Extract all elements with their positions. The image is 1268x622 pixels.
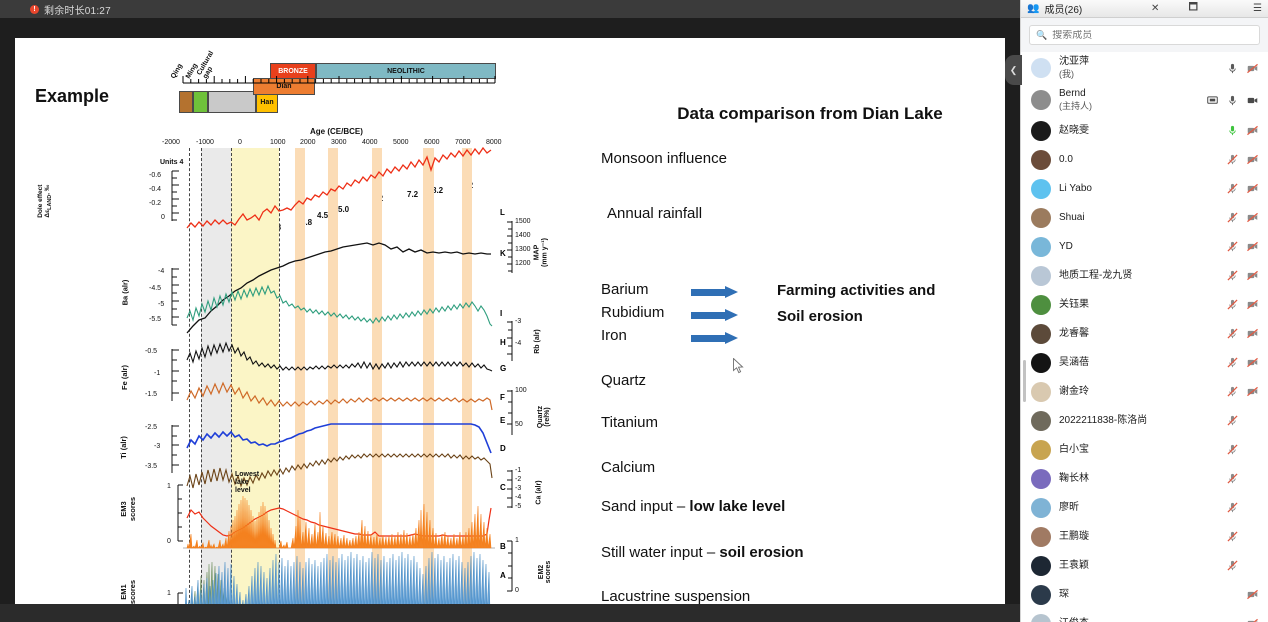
participants-panel-header: 👥 成员(26) 🗖 ✕ ☰ xyxy=(1021,0,1268,18)
participant-controls[interactable] xyxy=(1227,270,1258,281)
text-rubidium: Rubidium xyxy=(601,304,664,321)
participant-controls[interactable] xyxy=(1227,473,1258,484)
participant-row[interactable]: Li Yabo xyxy=(1021,174,1268,203)
camera-icon[interactable] xyxy=(1247,63,1258,74)
mic-icon[interactable] xyxy=(1227,63,1238,74)
search-input[interactable] xyxy=(1052,30,1253,41)
text-farming-callout-line2: Soil erosion xyxy=(777,308,863,326)
shared-screen-stage: Qing Ming Culturalgap Han Dian BRONZE NE… xyxy=(0,18,1020,604)
clock-icon: ! xyxy=(30,5,39,14)
participant-name: 0.0 xyxy=(1059,154,1219,166)
participant-name: YD xyxy=(1059,241,1219,253)
camera-icon[interactable] xyxy=(1247,357,1258,368)
avatar xyxy=(1031,556,1051,576)
hamburger-menu-icon[interactable]: ☰ xyxy=(1253,3,1262,14)
avatar xyxy=(1031,324,1051,344)
avatar xyxy=(1031,90,1051,110)
search-icon: 🔍 xyxy=(1036,30,1047,41)
participant-role: (我) xyxy=(1059,67,1219,80)
mic-icon[interactable] xyxy=(1227,531,1238,542)
text-quartz: Quartz xyxy=(601,372,646,389)
text-monsoon-influence: Monsoon influence xyxy=(601,150,727,167)
avatar xyxy=(1031,237,1051,257)
participant-name: 王鹏璇 xyxy=(1059,531,1219,543)
participant-name: 沈亚萍 xyxy=(1059,56,1219,68)
presentation-slide: Qing Ming Culturalgap Han Dian BRONZE NE… xyxy=(15,38,1005,612)
mic-icon[interactable] xyxy=(1227,357,1238,368)
participant-name: 廖昕 xyxy=(1059,502,1219,514)
text-still-water-plain: Still water input – xyxy=(601,544,719,561)
avatar xyxy=(1031,527,1051,547)
participant-name: 吴涵蓓 xyxy=(1059,357,1219,369)
participant-row[interactable]: 0.0 xyxy=(1021,145,1268,174)
participant-controls[interactable] xyxy=(1227,63,1258,74)
avatar xyxy=(1031,585,1051,605)
meeting-bottom-bar xyxy=(0,604,1020,622)
avatar xyxy=(1031,179,1051,199)
participant-row[interactable]: YD xyxy=(1021,232,1268,261)
camera-icon[interactable] xyxy=(1247,328,1258,339)
camera-icon[interactable] xyxy=(1247,241,1258,252)
participants-title: 成员(26) xyxy=(1044,1,1082,16)
participant-controls[interactable] xyxy=(1227,299,1258,310)
text-calcium: Calcium xyxy=(601,459,655,476)
text-still-water-input: Still water input – soil erosion xyxy=(601,544,804,561)
mic-icon[interactable] xyxy=(1227,125,1238,136)
chevron-left-icon[interactable]: ❮ xyxy=(1005,55,1022,85)
avatar xyxy=(1031,440,1051,460)
participant-controls[interactable] xyxy=(1227,589,1258,600)
mic-icon[interactable] xyxy=(1227,444,1238,455)
text-lacustrine-suspension: Lacustrine suspension xyxy=(601,588,750,605)
avatar xyxy=(1031,382,1051,402)
participant-name: 白小宝 xyxy=(1059,444,1219,456)
camera-icon[interactable] xyxy=(1247,125,1258,136)
participant-name-block: YD xyxy=(1059,241,1219,253)
close-icon[interactable]: ✕ xyxy=(1151,3,1159,14)
participant-name-block: 关钰果 xyxy=(1059,299,1219,311)
participant-name: Li Yabo xyxy=(1059,183,1219,195)
text-sand-input-bold: low lake level xyxy=(689,498,785,515)
mic-icon[interactable] xyxy=(1227,183,1238,194)
meeting-topbar: ! 剩余时长01:27 xyxy=(0,0,1020,18)
participant-row[interactable]: 江俊杰 xyxy=(1021,609,1268,622)
participant-controls[interactable] xyxy=(1227,560,1258,571)
camera-icon[interactable] xyxy=(1247,270,1258,281)
camera-icon[interactable] xyxy=(1247,183,1258,194)
participant-row[interactable]: Shuai xyxy=(1021,203,1268,232)
participant-row[interactable]: Bernd(主持人) xyxy=(1021,84,1268,116)
axis-title-map: MAP(mm y⁻¹) xyxy=(534,230,549,276)
participant-name-block: 赵晓雯 xyxy=(1059,125,1219,137)
participant-row[interactable]: 王鹏璇 xyxy=(1021,522,1268,551)
participant-name-block: 0.0 xyxy=(1059,154,1219,166)
mic-icon[interactable] xyxy=(1227,560,1238,571)
scrollbar-thumb[interactable] xyxy=(1023,360,1026,402)
text-farming-callout-line1: Farming activities and xyxy=(777,282,935,300)
avatar xyxy=(1031,295,1051,315)
participant-name-block: 吴涵蓓 xyxy=(1059,357,1219,369)
participant-row[interactable]: 沈亚萍(我) xyxy=(1021,52,1268,84)
participant-name-block: 江俊杰 xyxy=(1059,618,1219,622)
participant-controls[interactable] xyxy=(1227,618,1258,622)
text-barium: Barium xyxy=(601,281,649,298)
participant-row[interactable]: 龙睿馨 xyxy=(1021,319,1268,348)
meeting-timer-label: 剩余时长01:27 xyxy=(44,2,111,17)
participant-name-block: Bernd(主持人) xyxy=(1059,88,1199,113)
slide-heading-example: Example xyxy=(35,86,109,107)
participant-row[interactable]: 王袁颖 xyxy=(1021,551,1268,580)
avatar xyxy=(1031,150,1051,170)
text-titanium: Titanium xyxy=(601,414,658,431)
participant-controls[interactable] xyxy=(1227,531,1258,542)
participant-row[interactable]: 鞠长林 xyxy=(1021,464,1268,493)
participant-name-block: 鞠长林 xyxy=(1059,473,1219,485)
axis-title-ca-alr: Ca (alr) xyxy=(536,480,543,504)
mouse-cursor xyxy=(733,358,744,374)
participant-row[interactable]: 2022211838-陈洛尚 xyxy=(1021,406,1268,435)
participant-role: (主持人) xyxy=(1059,99,1199,112)
mic-icon[interactable] xyxy=(1227,212,1238,223)
participant-row[interactable]: 谢金玲 xyxy=(1021,377,1268,406)
participant-name: Bernd xyxy=(1059,88,1199,100)
screen-share-icon[interactable] xyxy=(1207,95,1218,106)
mic-icon[interactable] xyxy=(1227,473,1238,484)
participant-name-block: 白小宝 xyxy=(1059,444,1219,456)
camera-icon[interactable] xyxy=(1247,299,1258,310)
avatar xyxy=(1031,353,1051,373)
mic-icon[interactable] xyxy=(1227,415,1238,426)
participant-name: 江俊杰 xyxy=(1059,618,1219,622)
participant-name: 王袁颖 xyxy=(1059,560,1219,572)
participant-name: 琛 xyxy=(1059,589,1219,601)
participant-name: 鞠长林 xyxy=(1059,473,1219,485)
participant-name: 2022211838-陈洛尚 xyxy=(1059,415,1219,427)
avatar xyxy=(1031,498,1051,518)
participant-name: 关钰果 xyxy=(1059,299,1219,311)
participant-controls[interactable] xyxy=(1227,502,1258,513)
people-icon: 👥 xyxy=(1027,3,1039,14)
mic-icon[interactable] xyxy=(1227,241,1238,252)
participant-name-block: 地质工程-龙九贤 xyxy=(1059,270,1219,282)
camera-icon[interactable] xyxy=(1247,618,1258,622)
camera-icon[interactable] xyxy=(1247,386,1258,397)
mic-icon[interactable] xyxy=(1227,95,1238,106)
avatar xyxy=(1031,469,1051,489)
right-tick-marks xyxy=(20,63,550,608)
participant-name-block: 龙睿馨 xyxy=(1059,328,1219,340)
text-sand-input: Sand input – low lake level xyxy=(601,498,785,515)
participants-list[interactable]: 沈亚萍(我)Bernd(主持人)赵晓雯0.0Li YaboShuaiYD地质工程… xyxy=(1021,52,1268,622)
participant-name-block: Shuai xyxy=(1059,212,1219,224)
page-title: Data comparison from Dian Lake xyxy=(630,104,990,124)
text-annual-rainfall: Annual rainfall xyxy=(607,205,702,222)
avatar xyxy=(1031,58,1051,78)
participant-row[interactable]: 白小宝 xyxy=(1021,435,1268,464)
participant-controls[interactable] xyxy=(1207,95,1258,106)
text-iron: Iron xyxy=(601,327,627,344)
axis-title-rb-alr: Rb (alr) xyxy=(534,329,541,354)
mic-icon[interactable] xyxy=(1227,502,1238,513)
participant-row[interactable]: 赵晓雯 xyxy=(1021,116,1268,145)
text-still-water-bold: soil erosion xyxy=(719,544,803,561)
participant-controls[interactable] xyxy=(1227,183,1258,194)
participant-name: 龙睿馨 xyxy=(1059,328,1219,340)
popout-icon[interactable]: 🗖 xyxy=(1189,0,1199,17)
participant-controls[interactable] xyxy=(1227,212,1258,223)
dian-lake-figure: Qing Ming Culturalgap Han Dian BRONZE NE… xyxy=(20,63,550,608)
participants-panel: 👥 成员(26) 🗖 ✕ ☰ 🔍 沈亚萍(我)Bernd(主持人)赵晓雯0.0L… xyxy=(1020,0,1268,622)
axis-title-quartz: Quartz(rel%) xyxy=(537,397,551,437)
participant-name-block: 沈亚萍(我) xyxy=(1059,56,1219,81)
participant-controls[interactable] xyxy=(1227,154,1258,165)
participant-controls[interactable] xyxy=(1227,415,1258,426)
camera-icon[interactable] xyxy=(1247,154,1258,165)
avatar xyxy=(1031,266,1051,286)
camera-icon[interactable] xyxy=(1247,95,1258,106)
participant-row[interactable]: 关钰果 xyxy=(1021,290,1268,319)
participant-name: 地质工程-龙九贤 xyxy=(1059,270,1219,282)
avatar xyxy=(1031,208,1051,228)
avatar xyxy=(1031,614,1051,622)
participant-name-block: 谢金玲 xyxy=(1059,386,1219,398)
participant-name-block: Li Yabo xyxy=(1059,183,1219,195)
participant-name: 赵晓雯 xyxy=(1059,125,1219,137)
participant-row[interactable]: 地质工程-龙九贤 xyxy=(1021,261,1268,290)
camera-icon[interactable] xyxy=(1247,589,1258,600)
participant-controls[interactable] xyxy=(1227,241,1258,252)
camera-icon[interactable] xyxy=(1247,212,1258,223)
participant-controls[interactable] xyxy=(1227,386,1258,397)
participant-name: Shuai xyxy=(1059,212,1219,224)
participant-controls[interactable] xyxy=(1227,328,1258,339)
mic-icon[interactable] xyxy=(1227,154,1238,165)
participant-row[interactable]: 廖昕 xyxy=(1021,493,1268,522)
mic-icon[interactable] xyxy=(1227,270,1238,281)
participant-controls[interactable] xyxy=(1227,125,1258,136)
participant-controls[interactable] xyxy=(1227,444,1258,455)
avatar xyxy=(1031,121,1051,141)
avatar xyxy=(1031,411,1051,431)
participant-row[interactable]: 吴涵蓓 xyxy=(1021,348,1268,377)
participant-name-block: 王袁颖 xyxy=(1059,560,1219,572)
participant-name-block: 2022211838-陈洛尚 xyxy=(1059,415,1219,427)
participant-name-block: 琛 xyxy=(1059,589,1219,601)
participant-row[interactable]: 琛 xyxy=(1021,580,1268,609)
mic-icon[interactable] xyxy=(1227,328,1238,339)
participant-controls[interactable] xyxy=(1227,357,1258,368)
participant-name-block: 王鹏璇 xyxy=(1059,531,1219,543)
participant-name: 谢金玲 xyxy=(1059,386,1219,398)
participant-name-block: 廖昕 xyxy=(1059,502,1219,514)
axis-title-em2-scores: EM2scores xyxy=(538,552,552,592)
mic-icon[interactable] xyxy=(1227,299,1238,310)
text-sand-input-plain: Sand input – xyxy=(601,498,689,515)
participant-search[interactable]: 🔍 xyxy=(1029,25,1260,45)
mic-icon[interactable] xyxy=(1227,386,1238,397)
